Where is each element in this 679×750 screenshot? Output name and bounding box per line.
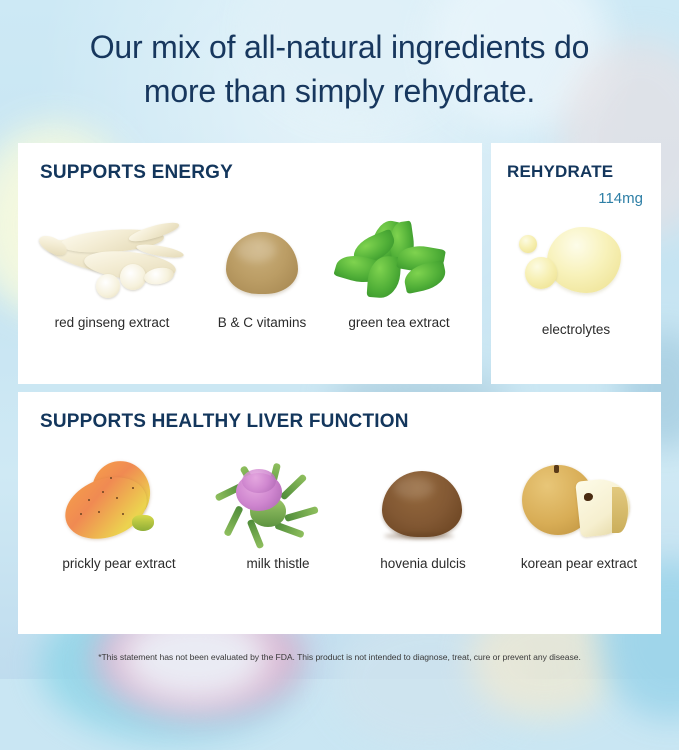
ingredient-green-tea: green tea extract xyxy=(328,216,470,330)
fda-disclaimer-text: *This statement has not been evaluated b… xyxy=(0,652,679,662)
card-supports-energy: SUPPORTS ENERGY red ginseng extract B & … xyxy=(18,143,482,384)
ingredient-hovenia-dulcis: hovenia dulcis xyxy=(350,457,496,571)
headline-line-2: more than simply rehydrate. xyxy=(0,70,679,114)
ingredient-label: B & C vitamins xyxy=(196,315,328,330)
ingredient-red-ginseng: red ginseng extract xyxy=(32,216,192,330)
ingredient-korean-pear: korean pear extract xyxy=(496,457,662,571)
page-title: Our mix of all-natural ingredients do mo… xyxy=(0,26,679,113)
card-title-rehydrate: REHYDRATE xyxy=(507,162,613,182)
card-title-liver: SUPPORTS HEALTHY LIVER FUNCTION xyxy=(40,411,409,433)
ingredient-label: korean pear extract xyxy=(496,556,662,571)
headline-line-1: Our mix of all-natural ingredients do xyxy=(0,26,679,70)
electrolyte-droplets-icon xyxy=(501,223,651,315)
ingredient-label: milk thistle xyxy=(208,556,348,571)
ingredient-prickly-pear: prickly pear extract xyxy=(36,457,202,571)
ingredient-label: prickly pear extract xyxy=(36,556,202,571)
card-title-energy: SUPPORTS ENERGY xyxy=(40,162,233,184)
ginseng-root-icon xyxy=(32,216,192,308)
green-tea-leaves-icon xyxy=(328,216,470,308)
ingredient-label: hovenia dulcis xyxy=(350,556,496,571)
rehydrate-amount-value: 114mg xyxy=(598,190,643,207)
ingredient-milk-thistle: milk thistle xyxy=(208,457,348,571)
card-supports-liver: SUPPORTS HEALTHY LIVER FUNCTION prickly … xyxy=(18,392,661,634)
hovenia-powder-icon xyxy=(350,457,496,549)
ingredient-label: green tea extract xyxy=(328,315,470,330)
card-rehydrate: REHYDRATE 114mg electrolytes xyxy=(491,143,661,384)
ingredient-b-c-vitamins: B & C vitamins xyxy=(196,216,328,330)
korean-pear-icon xyxy=(496,457,662,549)
vitamin-powder-icon xyxy=(196,216,328,308)
ingredient-label: red ginseng extract xyxy=(32,315,192,330)
ingredient-electrolytes: electrolytes xyxy=(501,223,651,337)
milk-thistle-flower-icon xyxy=(208,457,348,549)
prickly-pear-icon xyxy=(36,457,202,549)
ingredient-label: electrolytes xyxy=(501,322,651,337)
